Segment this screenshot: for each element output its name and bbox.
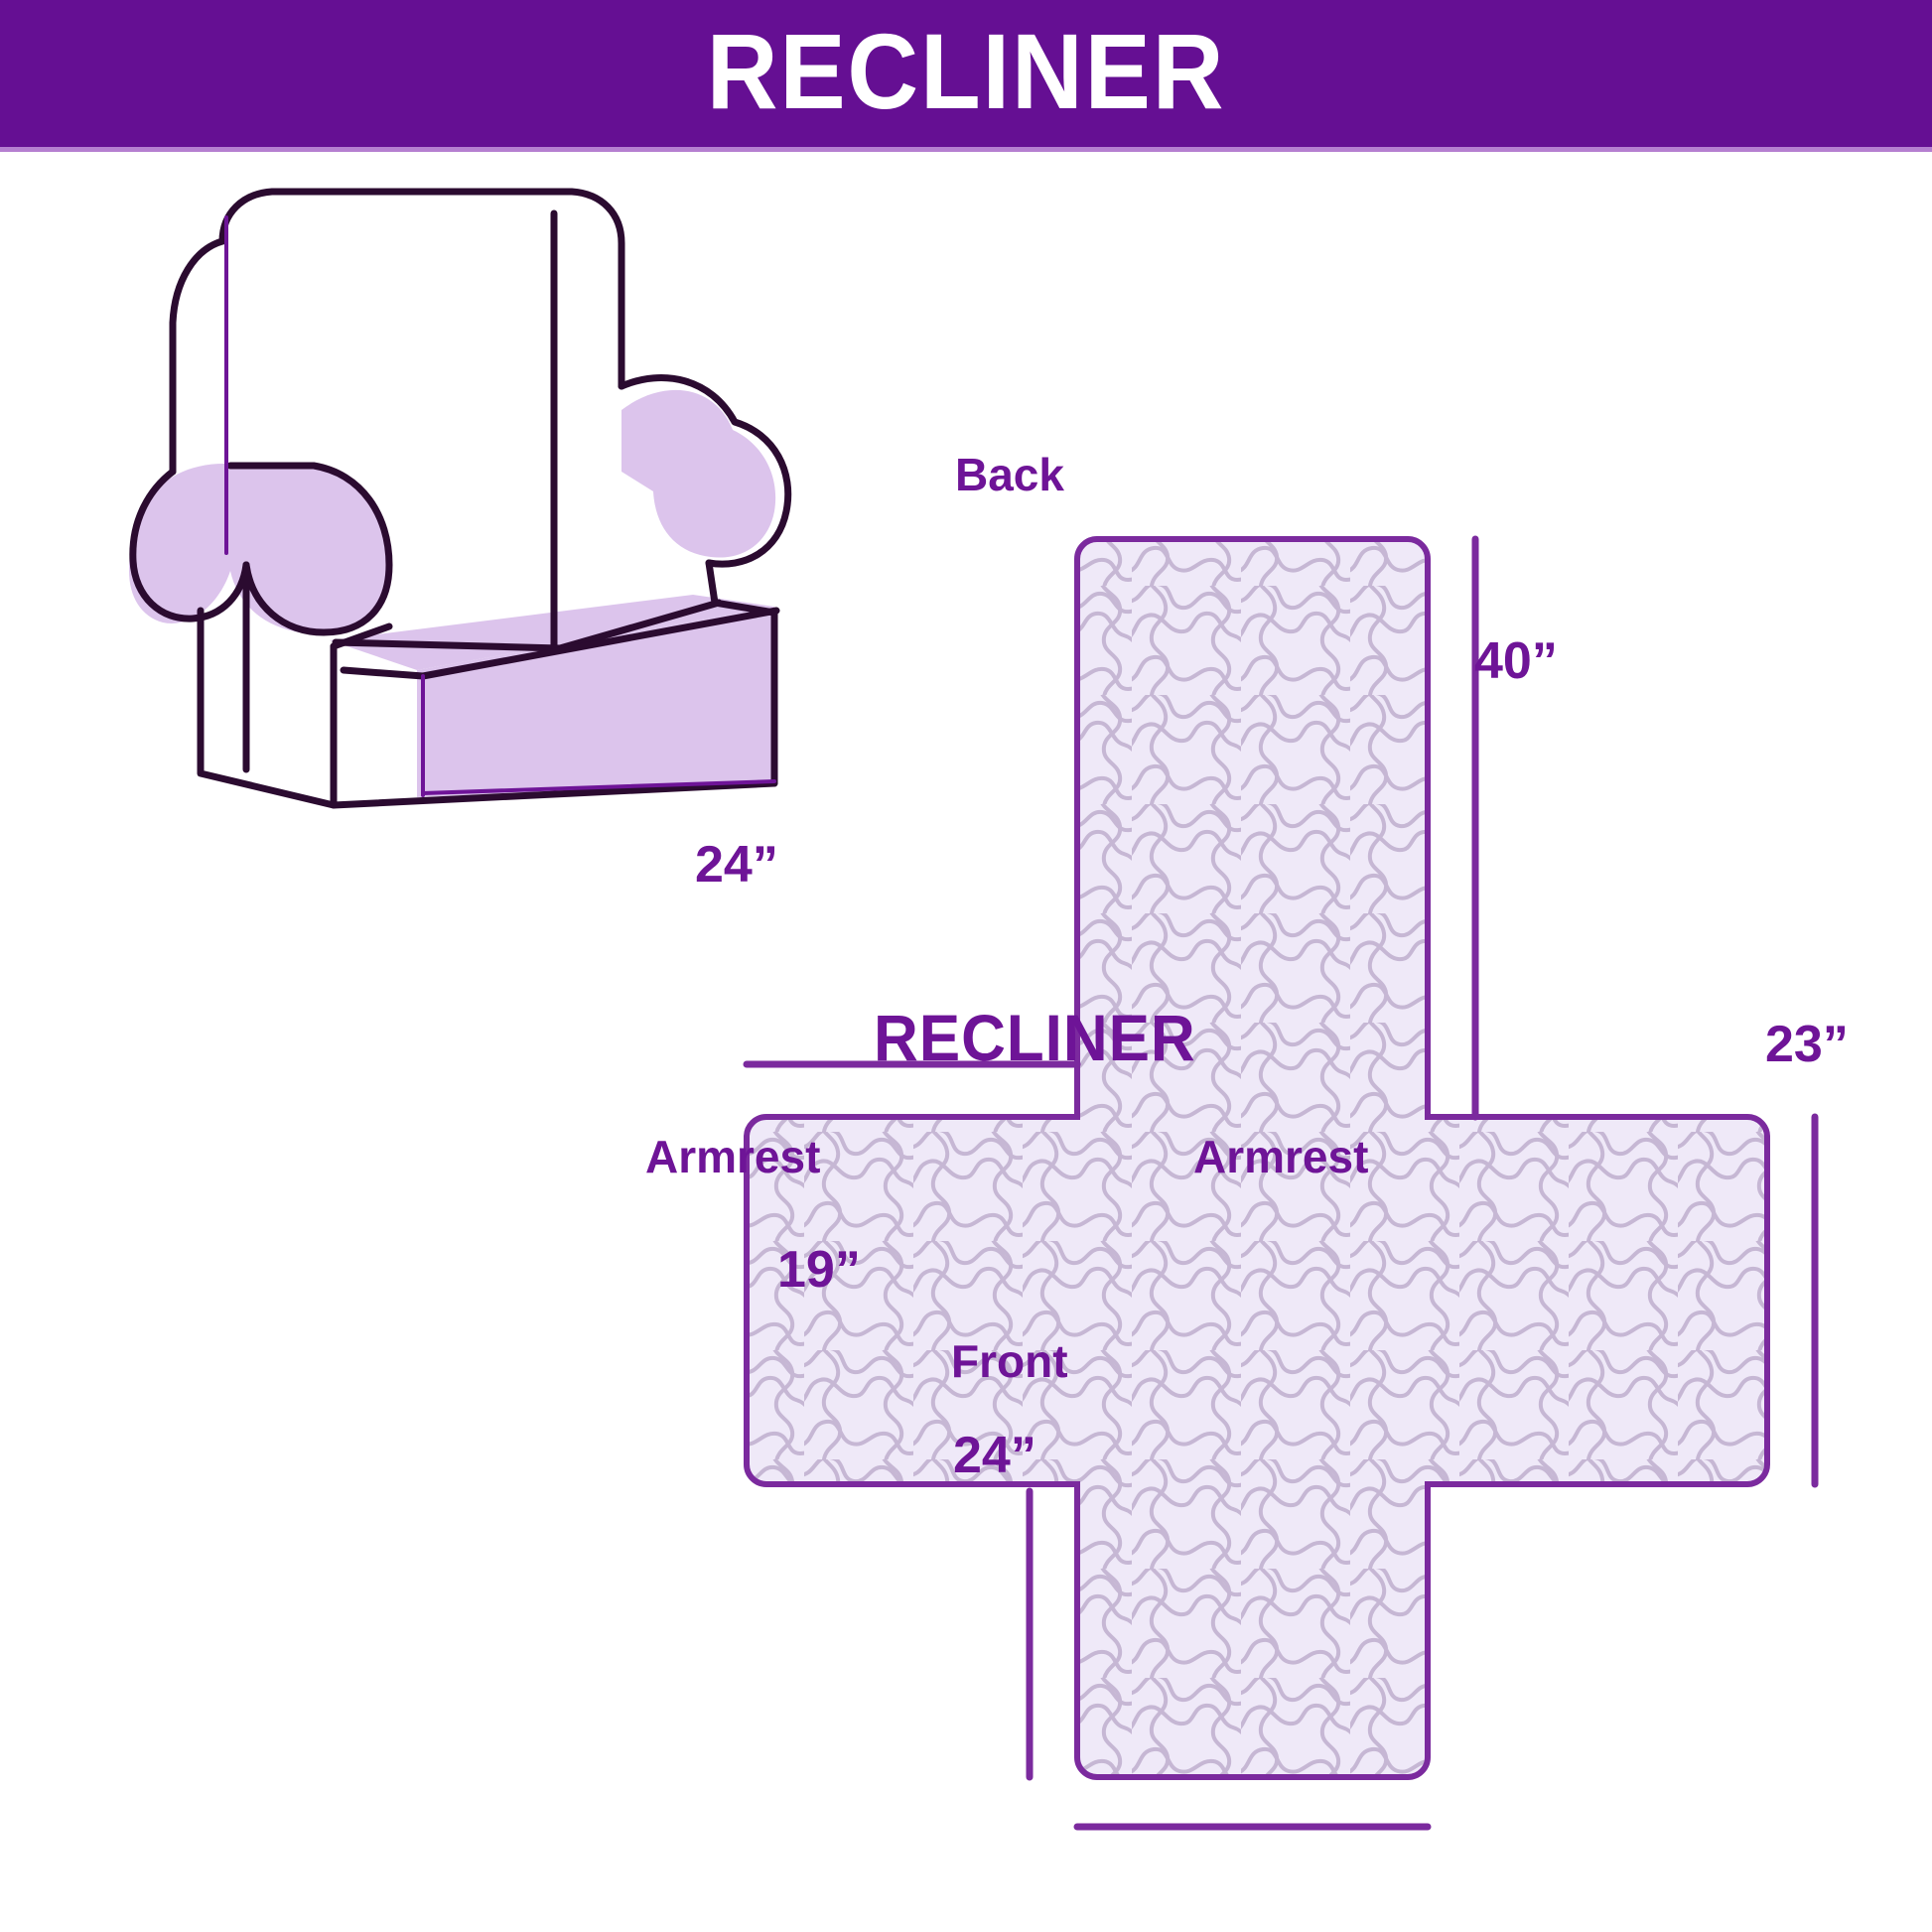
- panel-label-front: Front: [951, 1338, 1068, 1384]
- panel-label-back: Back: [955, 452, 1064, 497]
- size-chart-page: RECLINER: [0, 0, 1932, 1932]
- dimension-label-front-height: 19”: [777, 1244, 861, 1296]
- header-underline: [0, 147, 1932, 152]
- panel-label-armrest-left: Armrest: [645, 1134, 820, 1179]
- header-banner: RECLINER: [0, 0, 1932, 147]
- slipcover-layout-diagram: [695, 477, 1932, 1932]
- dimension-label-back-height: 40”: [1474, 635, 1558, 687]
- dimension-label-armrest-width: 24”: [695, 839, 778, 891]
- panel-label-armrest-right: Armrest: [1193, 1134, 1368, 1179]
- diagram-center-label: RECLINER: [874, 1005, 1196, 1070]
- dimension-label-front-width: 24”: [953, 1430, 1036, 1481]
- dimension-label-seat-height: 23”: [1765, 1019, 1849, 1070]
- page-title: RECLINER: [707, 18, 1226, 125]
